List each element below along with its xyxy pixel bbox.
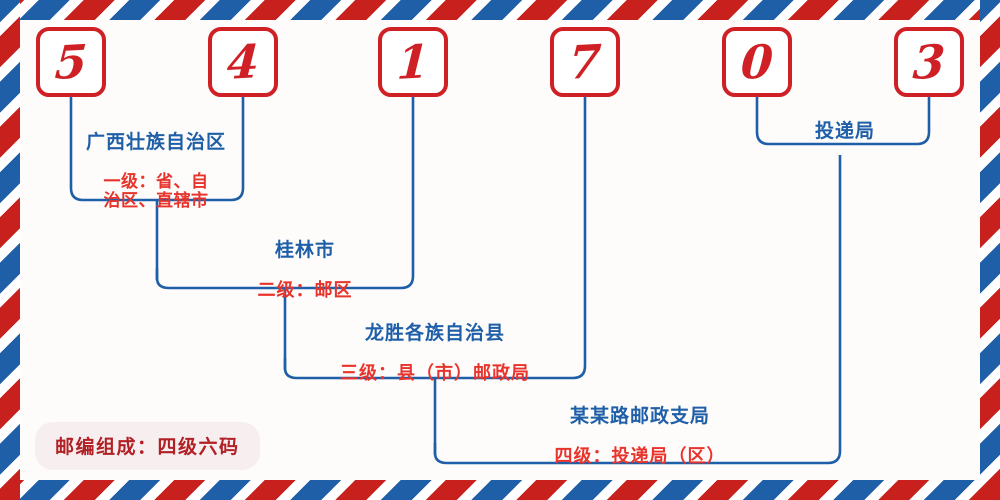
digit-glyph: 4 (226, 38, 261, 86)
postcode-composition-badge: 邮编组成：四级六码 (35, 422, 260, 470)
postcode-digit-5[interactable]: 0 (722, 27, 792, 97)
level-3-rank: 三级：县（市）邮政局 (280, 364, 590, 384)
postcode-composition-text: 邮编组成：四级六码 (55, 436, 240, 458)
delivery-office-name: 投递局 (755, 121, 935, 142)
digit-glyph: 0 (740, 38, 775, 86)
digit-glyph: 3 (912, 38, 947, 86)
postcode-digit-6[interactable]: 3 (894, 27, 964, 97)
digit-glyph: 1 (396, 38, 431, 86)
level-4-label-group: 某某路邮政支局 四级：投递局（区） (450, 388, 830, 485)
digit-glyph: 5 (54, 38, 89, 86)
level-4-rank: 四级：投递局（区） (450, 447, 830, 467)
level-1-name: 广西壮族自治区 (72, 132, 240, 153)
postcode-digit-1[interactable]: 5 (36, 27, 106, 97)
postcode-breakdown-diagram: 5 4 1 7 0 3 投递局 广西壮族自治区 一级：省、自 治区、直辖市 桂林… (0, 0, 1000, 500)
level-1-rank: 一级：省、自 治区、直辖市 (72, 173, 240, 211)
digit-glyph: 7 (568, 38, 603, 86)
level-2-name: 桂林市 (180, 240, 430, 261)
level-1-label-group: 广西壮族自治区 一级：省、自 治区、直辖市 (72, 114, 240, 229)
postcode-digit-4[interactable]: 7 (550, 27, 620, 97)
postcode-digit-2[interactable]: 4 (208, 27, 278, 97)
level-3-name: 龙胜各族自治县 (280, 323, 590, 344)
level-4-name: 某某路邮政支局 (450, 406, 830, 427)
postcode-digit-3[interactable]: 1 (378, 27, 448, 97)
delivery-office-label-group: 投递局 (755, 103, 935, 160)
level-2-rank: 二级：邮区 (180, 281, 430, 301)
